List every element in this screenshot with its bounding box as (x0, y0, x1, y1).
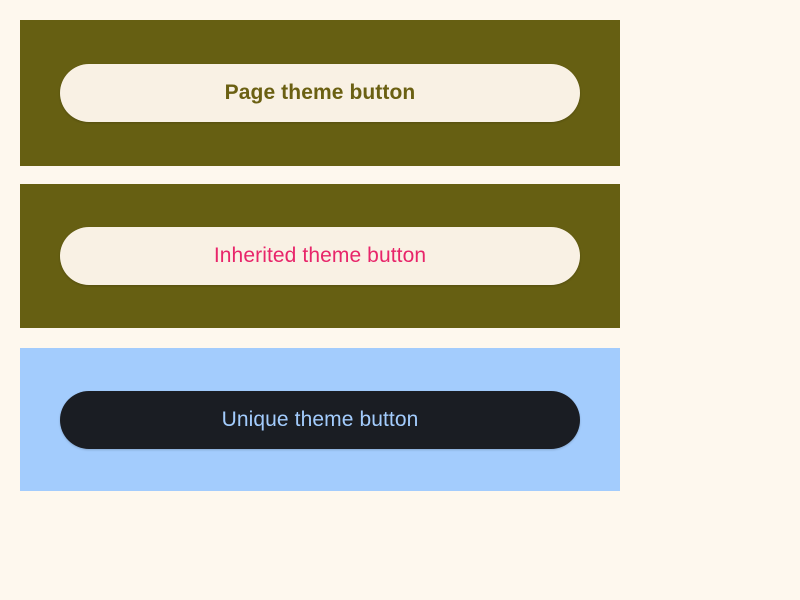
page-theme-panel: Page theme button (20, 20, 620, 166)
inherited-theme-panel: Inherited theme button (20, 184, 620, 328)
unique-theme-panel: Unique theme button (20, 348, 620, 491)
page-root: Page theme button Inherited theme button… (0, 0, 800, 600)
inherited-theme-button[interactable]: Inherited theme button (60, 227, 580, 285)
page-theme-button[interactable]: Page theme button (60, 64, 580, 122)
unique-theme-button[interactable]: Unique theme button (60, 391, 580, 449)
